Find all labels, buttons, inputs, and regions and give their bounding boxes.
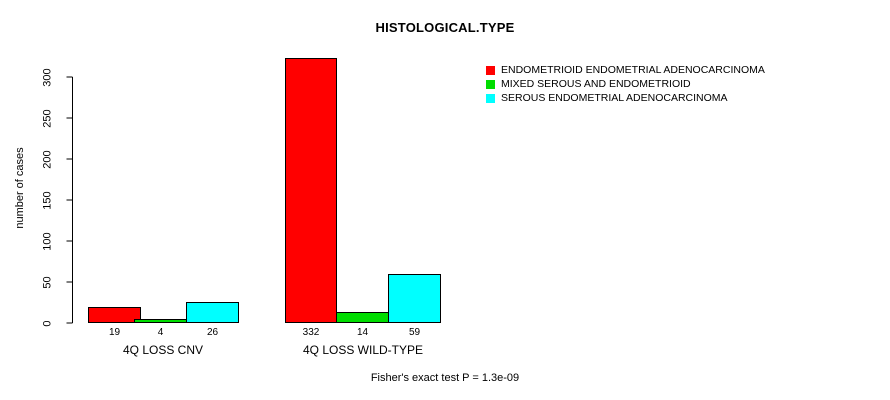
ytick-label-50: 50	[43, 268, 54, 298]
bar-group2-serous[interactable]	[388, 274, 441, 323]
group-label-4q-loss-wild-type: 4Q LOSS WILD-TYPE	[278, 344, 448, 356]
ytick-label-0: 0	[43, 309, 54, 339]
ytick-label-100: 100	[43, 227, 54, 257]
legend: ENDOMETRIOID ENDOMETRIAL ADENOCARCINOMA …	[486, 64, 765, 106]
legend-label-serous: SEROUS ENDOMETRIAL ADENOCARCINOMA	[501, 93, 728, 104]
legend-swatch-mixed	[486, 80, 495, 89]
bar-group2-endometrioid[interactable]	[285, 58, 337, 323]
legend-item-endometrioid[interactable]: ENDOMETRIOID ENDOMETRIAL ADENOCARCINOMA	[486, 64, 765, 76]
legend-item-serous[interactable]: SEROUS ENDOMETRIAL ADENOCARCINOMA	[486, 92, 765, 104]
bar-count-group1-mixed: 4	[134, 328, 187, 338]
ytick-label-200: 200	[43, 145, 54, 175]
bar-count-group2-mixed: 14	[336, 328, 389, 338]
y-axis-title: number of cases	[14, 138, 26, 238]
bar-group1-serous[interactable]	[186, 302, 239, 323]
y-axis	[0, 0, 470, 400]
ytick-label-300: 300	[43, 63, 54, 93]
legend-swatch-endometrioid	[486, 66, 495, 75]
legend-swatch-serous	[486, 94, 495, 103]
statistical-test-note: Fisher's exact test P = 1.3e-09	[0, 372, 890, 384]
legend-label-mixed: MIXED SEROUS AND ENDOMETRIOID	[501, 79, 691, 90]
bar-count-group1-serous: 26	[186, 328, 239, 338]
ytick-label-150: 150	[43, 186, 54, 216]
bar-count-group2-endometrioid: 332	[285, 328, 337, 338]
legend-label-endometrioid: ENDOMETRIOID ENDOMETRIAL ADENOCARCINOMA	[501, 65, 765, 76]
bar-group1-mixed[interactable]	[134, 319, 187, 323]
bar-group2-mixed[interactable]	[336, 312, 389, 323]
bar-count-group2-serous: 59	[388, 328, 441, 338]
plot-area: 0 50 100 150 200 250 300 number of cases…	[0, 0, 470, 400]
ytick-label-250: 250	[43, 104, 54, 134]
group-label-4q-loss-cnv: 4Q LOSS CNV	[78, 344, 248, 356]
legend-item-mixed[interactable]: MIXED SEROUS AND ENDOMETRIOID	[486, 78, 765, 90]
